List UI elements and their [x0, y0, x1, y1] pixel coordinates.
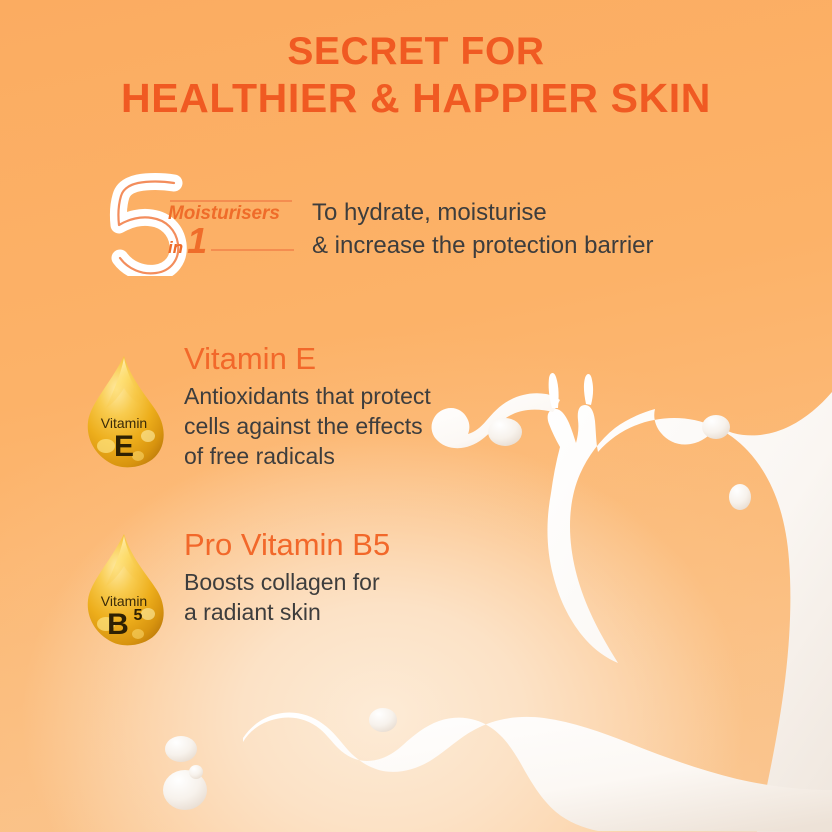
five-badge-lockup: Moisturisers in 1 [168, 200, 294, 257]
vitamin-e-desc-line-3: of free radicals [184, 441, 431, 471]
product-benefits-poster: SECRET FOR HEALTHIER & HAPPIER SKIN Mois… [0, 0, 832, 832]
vitamin-b5-droplet-icon: Vitamin B 5 [72, 530, 176, 652]
vitamin-e-desc-line-1: Antioxidants that protect [184, 381, 431, 411]
headline-line-1: SECRET FOR [0, 28, 832, 75]
five-desc-line-1: To hydrate, moisturise [312, 196, 654, 229]
number-one-label: 1 [187, 225, 207, 257]
vitamin-b5-droplet-symbol: B [107, 608, 129, 641]
vitamin-b5-text-block: Pro Vitamin B5 Boosts collagen for a rad… [184, 526, 390, 627]
five-desc-line-2: & increase the protection barrier [312, 229, 654, 262]
vitamin-b5-desc-line-1: Boosts collagen for [184, 567, 390, 597]
page-title: SECRET FOR HEALTHIER & HAPPIER SKIN [0, 28, 832, 122]
in-one-group: in 1 [168, 225, 294, 257]
headline-line-2: HEALTHIER & HAPPIER SKIN [0, 75, 832, 122]
vitamin-e-text-block: Vitamin E Antioxidants that protect cell… [184, 340, 431, 471]
vitamin-b5-droplet-superscript: 5 [134, 607, 143, 624]
feature-row-pro-vitamin-b5: Vitamin B 5 Pro Vitamin B5 Boosts collag… [72, 530, 390, 652]
vitamin-e-title: Vitamin E [184, 340, 431, 378]
vitamin-b5-description: Boosts collagen for a radiant skin [184, 567, 390, 627]
feature-row-vitamin-e: Vitamin E Vitamin E Antioxidants that pr… [72, 352, 431, 474]
in-one-rule [211, 249, 294, 251]
vitamin-b5-title: Pro Vitamin B5 [184, 526, 390, 564]
vitamin-e-droplet-icon: Vitamin E [72, 352, 176, 474]
vitamin-e-droplet-label: Vitamin [101, 415, 147, 431]
five-in-one-badge: Moisturisers in 1 [96, 178, 294, 276]
vitamin-b5-desc-line-2: a radiant skin [184, 597, 390, 627]
moisturisers-rule [170, 200, 292, 202]
vitamin-e-desc-line-2: cells against the effects [184, 411, 431, 441]
vitamin-e-droplet-symbol: E [114, 430, 134, 463]
feature-row-five-moisturisers: Moisturisers in 1 To hydrate, moisturise… [96, 178, 654, 276]
in-label: in [168, 238, 183, 257]
vitamin-e-description: Antioxidants that protect cells against … [184, 381, 431, 471]
five-moisturisers-description: To hydrate, moisturise & increase the pr… [312, 196, 654, 262]
